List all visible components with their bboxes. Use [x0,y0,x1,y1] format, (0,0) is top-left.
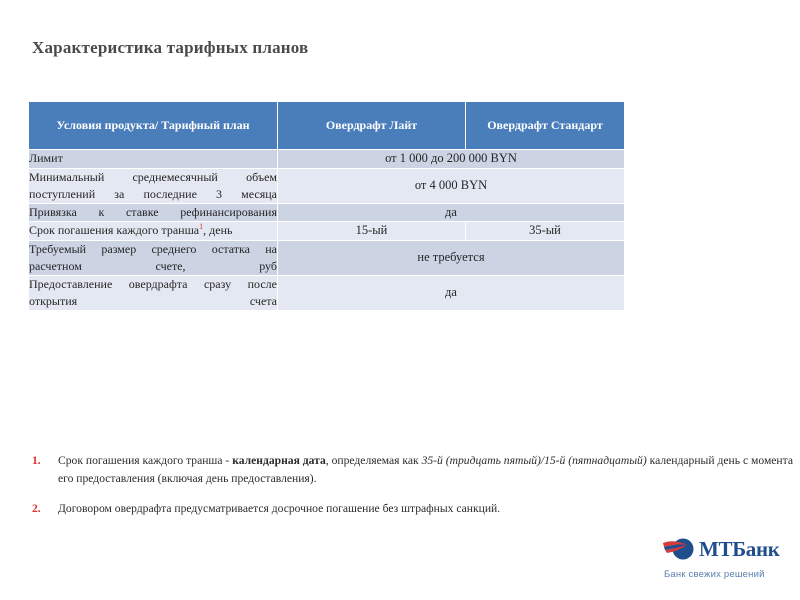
footnote-item-2: 2.Договором овердрафта предусматривается… [28,500,793,518]
row-condition-label: Срок погашения каждого транша1, день [29,222,278,241]
row-condition-label: Привязка к ставке рефинансирования [29,203,278,222]
row-condition-label: Требуемый размер среднего остатка на рас… [29,240,278,275]
footnote-text-part1: Договором овердрафта предусматривается д… [58,502,500,515]
table-row: Минимальный среднемесячный объем поступл… [29,168,625,203]
row-condition-label: Лимит [29,150,278,169]
table-row: Привязка к ставке рефинансирования да [29,203,625,222]
logo-wordmark: МТБанк [699,539,780,560]
table-row: Требуемый размер среднего остатка на рас… [29,240,625,275]
header-cell-conditions: Условия продукта/ Тарифный план [29,102,278,150]
row-value-light: 15-ый [278,222,466,241]
row-value-merged: да [278,275,625,310]
row-condition-text: Срок погашения каждого транша [29,223,199,237]
footnote-text-bold: календарная дата [232,454,326,467]
footnote-number: 1. [32,452,41,470]
page-title: Характеристика тарифных планов [32,38,732,58]
row-value-merged: да [278,203,625,222]
row-value-merged: не требуется [278,240,625,275]
row-condition-tail: , день [203,223,232,237]
mtbank-logo: МТБанк Банк свежих решений [662,534,794,584]
table-header-row: Условия продукта/ Тарифный план Овердраф… [29,102,625,150]
tariff-comparison-table: Условия продукта/ Тарифный план Овердраф… [28,101,625,311]
logo-tagline: Банк свежих решений [664,569,794,580]
header-cell-overdraft-standard: Овердрафт Стандарт [466,102,625,150]
logo-row: МТБанк [662,534,794,564]
header-cell-overdraft-light: Овердрафт Лайт [278,102,466,150]
slide-canvas: Характеристика тарифных планов Условия п… [0,0,800,600]
row-condition-label: Минимальный среднемесячный объем поступл… [29,168,278,203]
footnote-list: 1.Срок погашения каждого транша - календ… [28,452,788,530]
table-row: Предоставление овердрафта сразу после от… [29,275,625,310]
footnote-text-italic: 35-й (тридцать пятый)/15-й (пятнадцатый) [422,454,647,467]
mtbank-circle-swoosh-icon [662,535,696,563]
footnote-text-part1: Срок погашения каждого транша - [58,454,232,467]
footnote-item-1: 1.Срок погашения каждого транша - календ… [28,452,793,488]
table-row: Срок погашения каждого транша1, день 15-… [29,222,625,241]
table-row: Лимит от 1 000 до 200 000 BYN [29,150,625,169]
footnote-text-part2: , определяемая как [326,454,422,467]
footnote-number: 2. [32,500,41,518]
row-condition-label: Предоставление овердрафта сразу после от… [29,275,278,310]
row-value-merged: от 1 000 до 200 000 BYN [278,150,625,169]
row-value-merged: от 4 000 BYN [278,168,625,203]
row-value-standard: 35-ый [466,222,625,241]
